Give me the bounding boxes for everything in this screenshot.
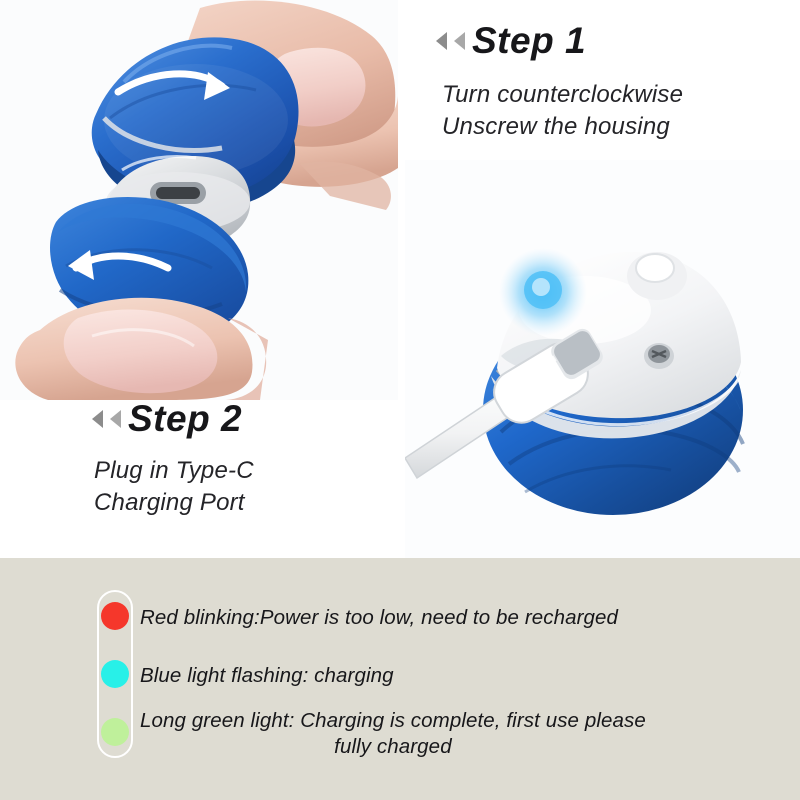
photo-unscrew-housing (0, 0, 398, 400)
step-1-lines: Turn counterclockwise Unscrew the housin… (442, 79, 683, 143)
step-1-line-1: Turn counterclockwise (442, 79, 683, 111)
step-2-line-2: Charging Port (94, 487, 254, 519)
green-indicator-dot (101, 718, 129, 746)
legend-rows: Red blinking:Power is too low, need to b… (0, 558, 800, 800)
step-2-line-1: Plug in Type-C (94, 455, 254, 487)
step-2-lines: Plug in Type-C Charging Port (94, 455, 254, 519)
left-triangle-icon (436, 32, 447, 50)
unscrew-illustration (0, 0, 398, 400)
legend-text-cyan: Blue light flashing: charging (140, 662, 394, 689)
legend-text-green-line-1: Long green light: Charging is complete, … (140, 709, 646, 732)
led-status-legend: Red blinking:Power is too low, need to b… (0, 558, 800, 800)
photo-charging-port (405, 160, 800, 558)
step-2-heading: Step 2 (92, 400, 254, 437)
step-1-title: Step 1 (472, 22, 586, 59)
photo-collage: Step 1 Turn counterclockwise Unscrew the… (0, 0, 800, 558)
step-1-heading: Step 1 (436, 22, 683, 59)
left-triangle-icon (92, 410, 103, 428)
legend-text-green-line-2: fully charged (140, 734, 646, 760)
step-2-block: Step 2 Plug in Type-C Charging Port (88, 400, 254, 519)
step-1-line-2: Unscrew the housing (442, 111, 683, 143)
red-indicator-dot (101, 602, 129, 630)
screw (644, 343, 674, 369)
charging-illustration (405, 160, 800, 558)
cyan-indicator-dot (101, 660, 129, 688)
step-2-title: Step 2 (128, 400, 242, 437)
instruction-card: Step 1 Turn counterclockwise Unscrew the… (0, 0, 800, 800)
led-indicator (499, 248, 587, 336)
left-triangle-icon-2 (454, 32, 465, 50)
power-button (627, 252, 687, 300)
legend-text-red: Red blinking:Power is too low, need to b… (140, 604, 618, 631)
legend-text-green: Long green light: Charging is complete, … (140, 708, 646, 760)
step-1-block: Step 1 Turn counterclockwise Unscrew the… (436, 22, 683, 143)
left-triangle-icon-2 (110, 410, 121, 428)
